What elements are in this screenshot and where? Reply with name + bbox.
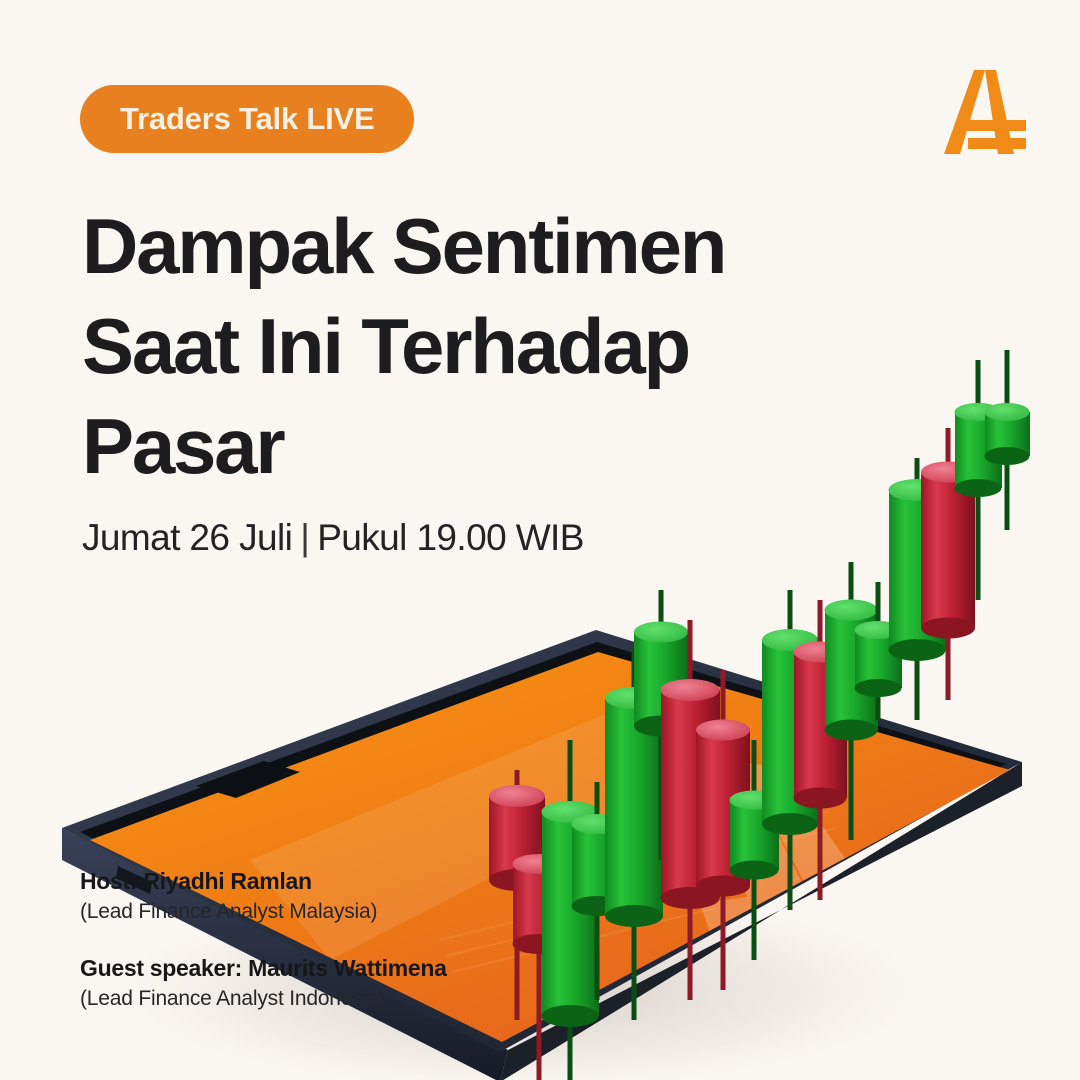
live-badge-label: Traders Talk LIVE <box>120 101 374 137</box>
host-name: Host: Riyadhi Ramlan <box>80 866 447 897</box>
poster-canvas: Traders Talk LIVE Dampak Sentimen Saat I… <box>0 0 1080 1080</box>
headline-line-1: Dampak Sentimen <box>82 196 822 296</box>
guest-role: (Lead Finance Analyst Indonesia) <box>80 984 447 1014</box>
live-badge: Traders Talk LIVE <box>80 85 414 153</box>
speaker-credits: Host: Riyadhi Ramlan (Lead Finance Analy… <box>80 866 447 1014</box>
guest-credit: Guest speaker: Maurits Wattimena (Lead F… <box>80 953 447 1014</box>
ascendant-a-logo-icon <box>930 62 1030 162</box>
host-credit: Host: Riyadhi Ramlan (Lead Finance Analy… <box>80 866 447 927</box>
candle-17-bullish <box>985 350 1031 530</box>
host-role: (Lead Finance Analyst Malaysia) <box>80 897 447 927</box>
guest-name: Guest speaker: Maurits Wattimena <box>80 953 447 984</box>
